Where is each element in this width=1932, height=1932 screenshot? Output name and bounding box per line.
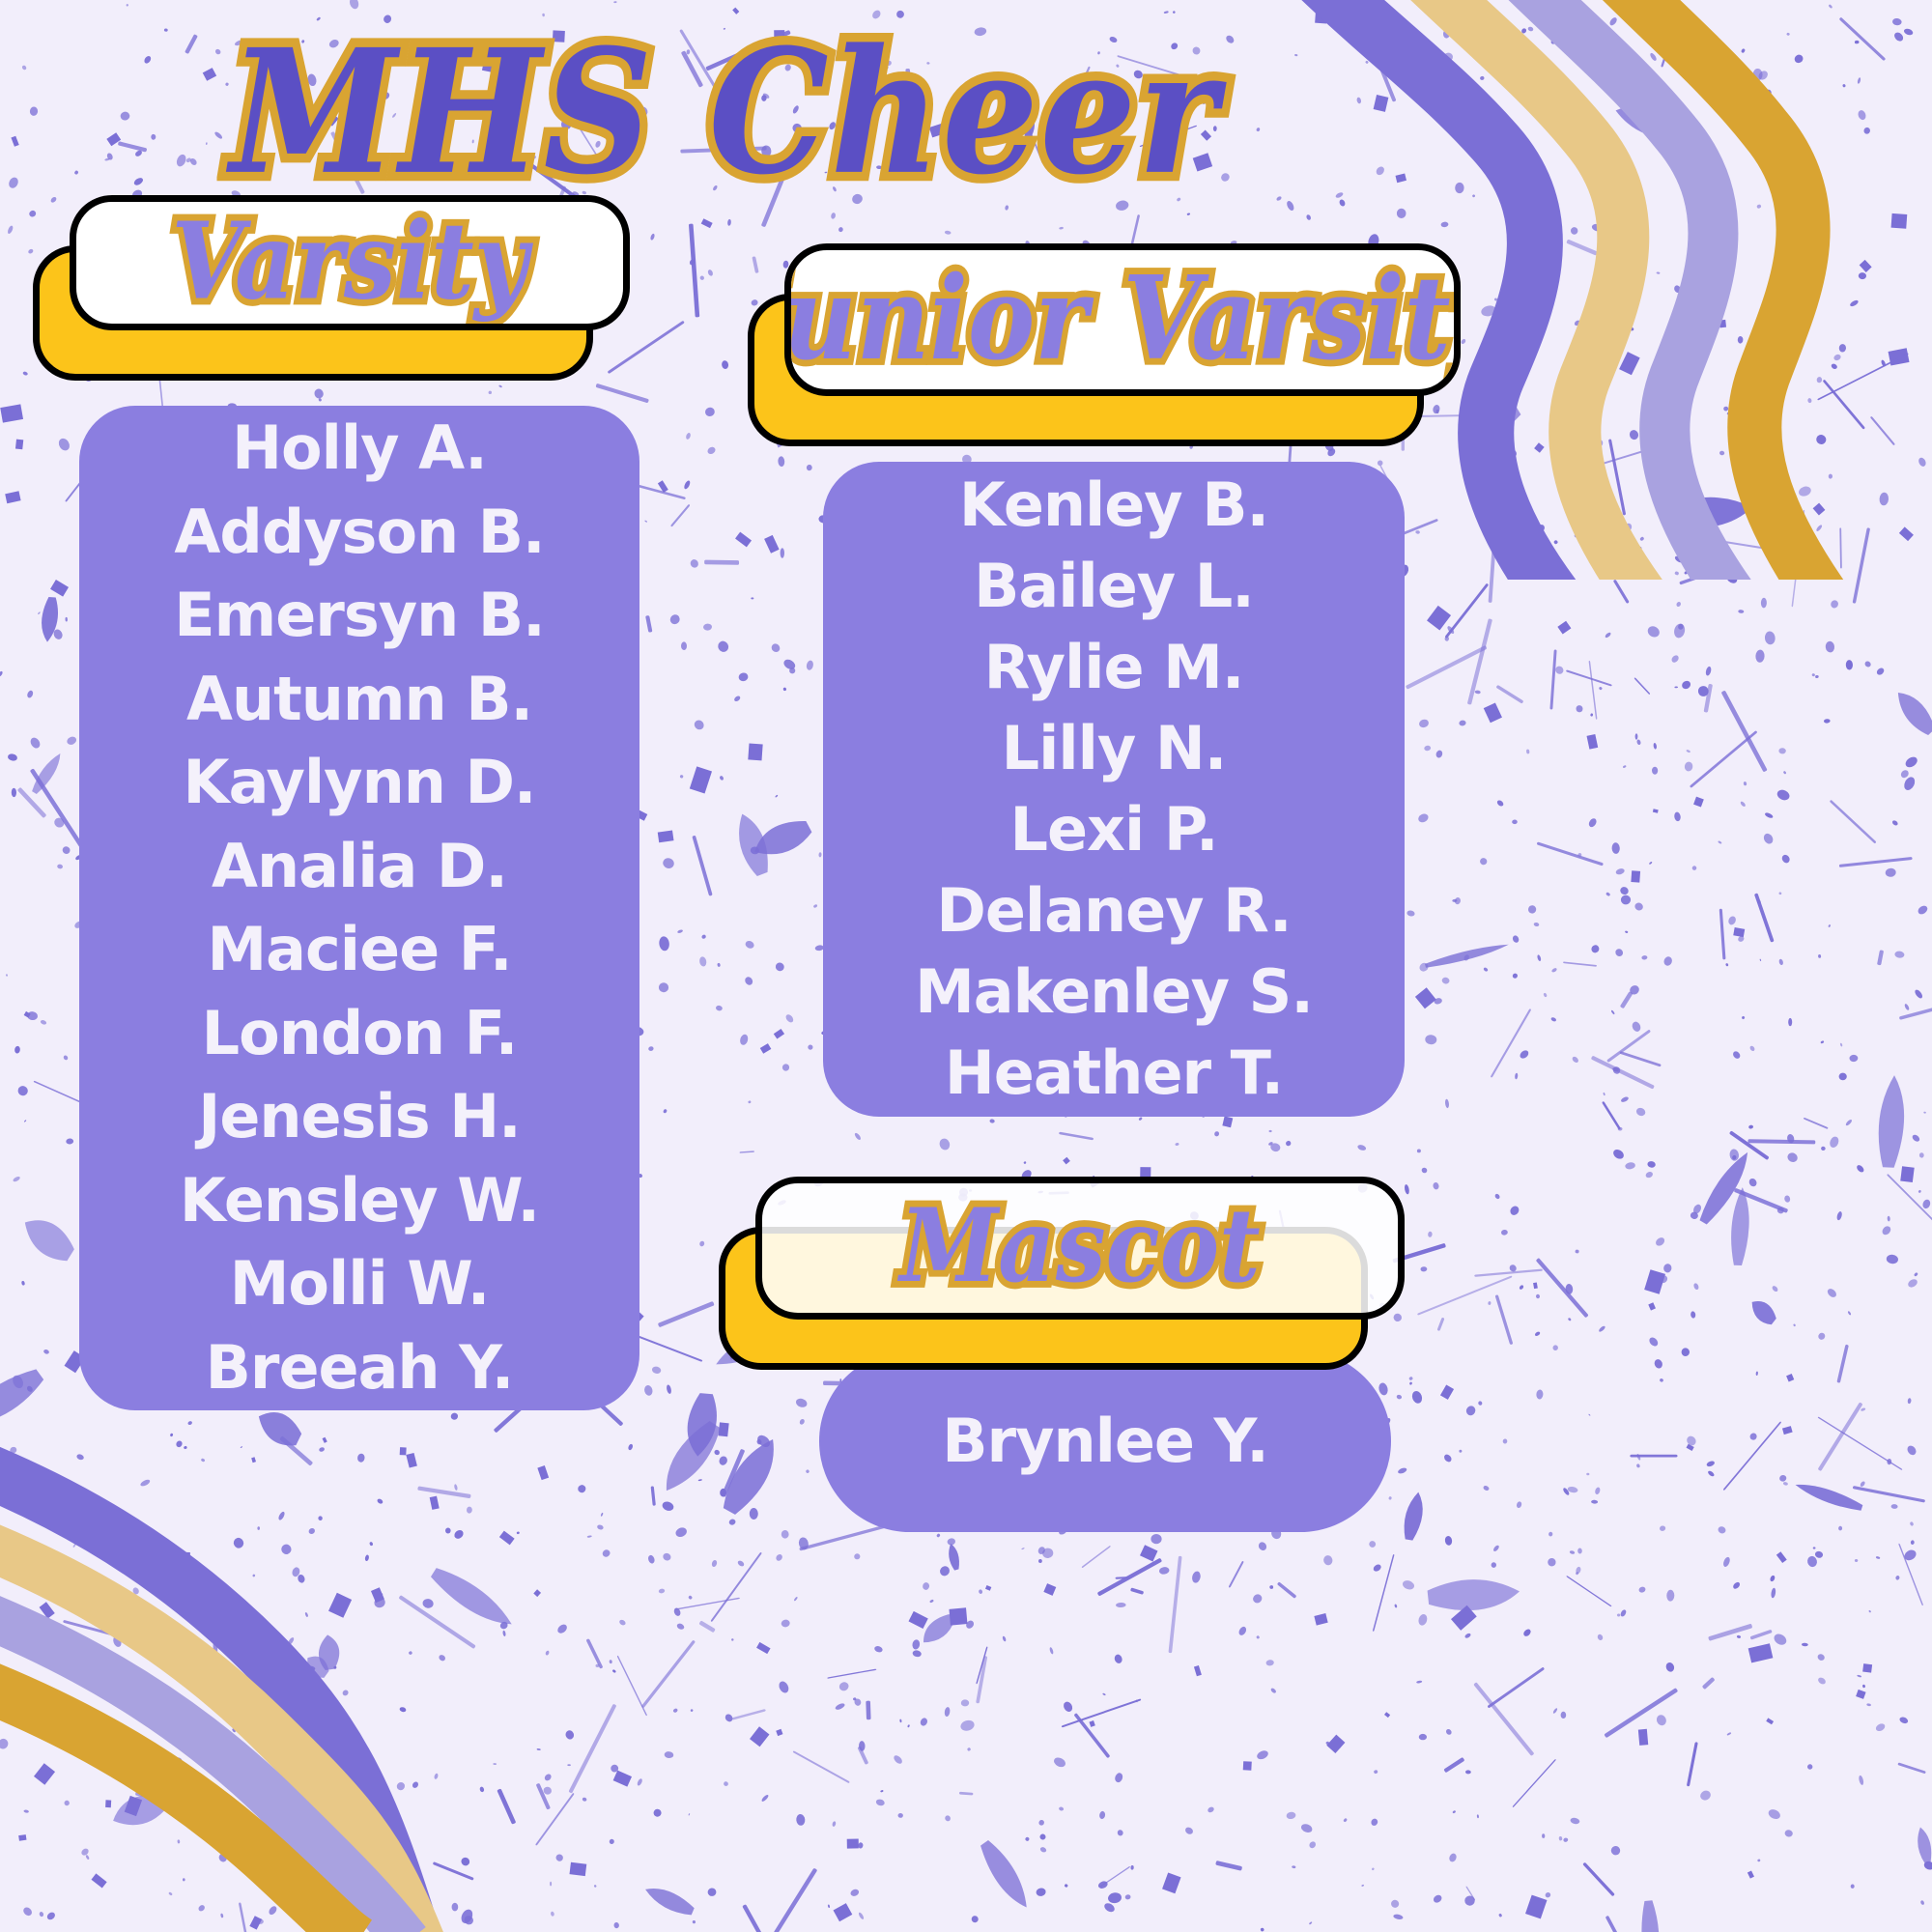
list-item: Brynlee Y. xyxy=(942,1407,1268,1475)
list-item: Heather T. xyxy=(945,1033,1283,1114)
mascot-roster-card: Brynlee Y. xyxy=(819,1350,1391,1532)
varsity-heading-banner: Varsity xyxy=(70,195,630,330)
list-item: Jenesis H. xyxy=(198,1075,520,1159)
mascot-heading-label: Mascot xyxy=(899,1186,1260,1305)
list-item: Kensley W. xyxy=(180,1159,539,1243)
list-item: Addyson B. xyxy=(174,491,544,575)
list-item: Molli W. xyxy=(230,1242,490,1326)
list-item: Makenley S. xyxy=(915,952,1313,1033)
poster-title-area: MHS Cheer xyxy=(0,27,1449,172)
junior-varsity-roster-card: Kenley B. Bailey L. Rylie M. Lilly N. Le… xyxy=(823,462,1405,1117)
page-title: MHS Cheer xyxy=(230,27,1219,198)
list-item: Rylie M. xyxy=(984,627,1244,708)
banner-face: Mascot xyxy=(755,1177,1405,1320)
banner-face: Varsity xyxy=(70,195,630,330)
list-item: Emersyn B. xyxy=(174,574,544,658)
list-item: Breeah Y. xyxy=(206,1326,514,1410)
poster-canvas: MHS Cheer Varsity Holly A. Addyson B. Em… xyxy=(0,0,1932,1932)
list-item: Lexi P. xyxy=(1010,789,1218,870)
banner-face: Junior Varsity xyxy=(784,243,1461,396)
list-item: Bailey L. xyxy=(974,546,1254,627)
list-item: London F. xyxy=(202,992,518,1076)
varsity-roster-card: Holly A. Addyson B. Emersyn B. Autumn B.… xyxy=(79,406,639,1410)
list-item: Analia D. xyxy=(212,825,507,909)
list-item: Lilly N. xyxy=(1002,708,1227,789)
list-item: Autumn B. xyxy=(186,658,532,742)
junior-varsity-heading-label: Junior Varsity xyxy=(784,250,1461,385)
list-item: Maciee F. xyxy=(207,908,511,992)
mascot-heading-banner: Mascot xyxy=(755,1177,1405,1320)
list-item: Kaylynn D. xyxy=(184,741,536,825)
junior-varsity-heading-banner: Junior Varsity xyxy=(784,243,1461,396)
list-item: Holly A. xyxy=(232,407,487,491)
list-item: Delaney R. xyxy=(936,870,1291,952)
list-item: Kenley B. xyxy=(959,465,1268,546)
varsity-heading-label: Varsity xyxy=(171,198,527,323)
